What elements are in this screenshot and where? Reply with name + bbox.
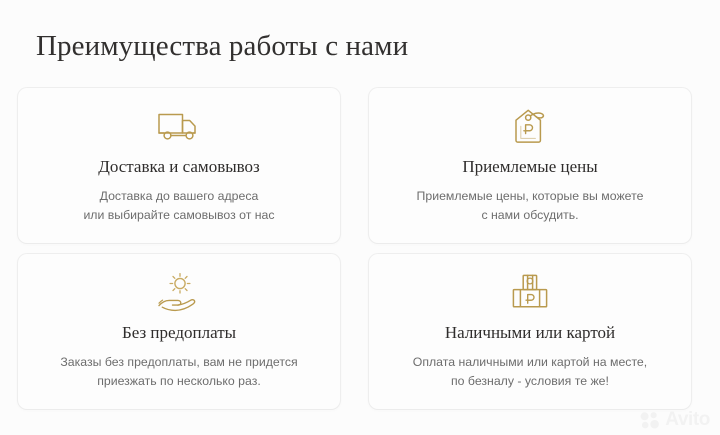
avito-watermark: Avito: [640, 410, 710, 429]
page-title: Преимущества работы с нами: [36, 28, 408, 64]
body-line: приезжать по несколько раз.: [60, 372, 297, 391]
body-line: по безналу - условия те же!: [413, 372, 647, 391]
advantage-card-heading: Приемлемые цены: [462, 156, 597, 178]
body-line: Приемлемые цены, которые вы можете: [417, 187, 644, 206]
advantage-card-body: Оплата наличными или картой на месте, по…: [399, 353, 661, 391]
avito-watermark-label: Avito: [665, 410, 710, 429]
body-line: или выбирайте самовывоз от нас: [83, 206, 274, 225]
advantage-card-body: Доставка до вашего адреса или выбирайте …: [69, 187, 288, 225]
price-tag-ruble-icon: [509, 99, 551, 153]
advantage-card-body: Заказы без предоплаты, вам не придется п…: [46, 353, 311, 391]
body-line: Доставка до вашего адреса: [83, 187, 274, 206]
body-line: Заказы без предоплаты, вам не придется: [60, 353, 297, 372]
advantage-card-heading: Доставка и самовывоз: [98, 156, 260, 178]
avito-logo-icon: [640, 411, 661, 429]
advantage-card-heading: Без предоплаты: [122, 322, 236, 344]
hand-holding-sun-icon: [155, 265, 203, 319]
advantage-card-prices: Приемлемые цены Приемлемые цены, которые…: [369, 88, 691, 243]
advantage-card-no-prepayment: Без предоплаты Заказы без предоплаты, ва…: [18, 254, 340, 409]
advantages-section: Преимущества работы с нами Доставка и са…: [0, 0, 720, 435]
body-line: Оплата наличными или картой на месте,: [413, 353, 647, 372]
advantage-card-delivery: Доставка и самовывоз Доставка до вашего …: [18, 88, 340, 243]
advantage-card-body: Приемлемые цены, которые вы можете с нам…: [403, 187, 658, 225]
advantages-card-grid: Доставка и самовывоз Доставка до вашего …: [18, 88, 702, 409]
advantage-card-heading: Наличными или картой: [445, 322, 615, 344]
body-line: с нами обсудить.: [417, 206, 644, 225]
cash-stack-ruble-icon: [508, 265, 552, 319]
advantage-card-payment: Наличными или картой Оплата наличными ил…: [369, 254, 691, 409]
delivery-truck-icon: [156, 99, 202, 153]
